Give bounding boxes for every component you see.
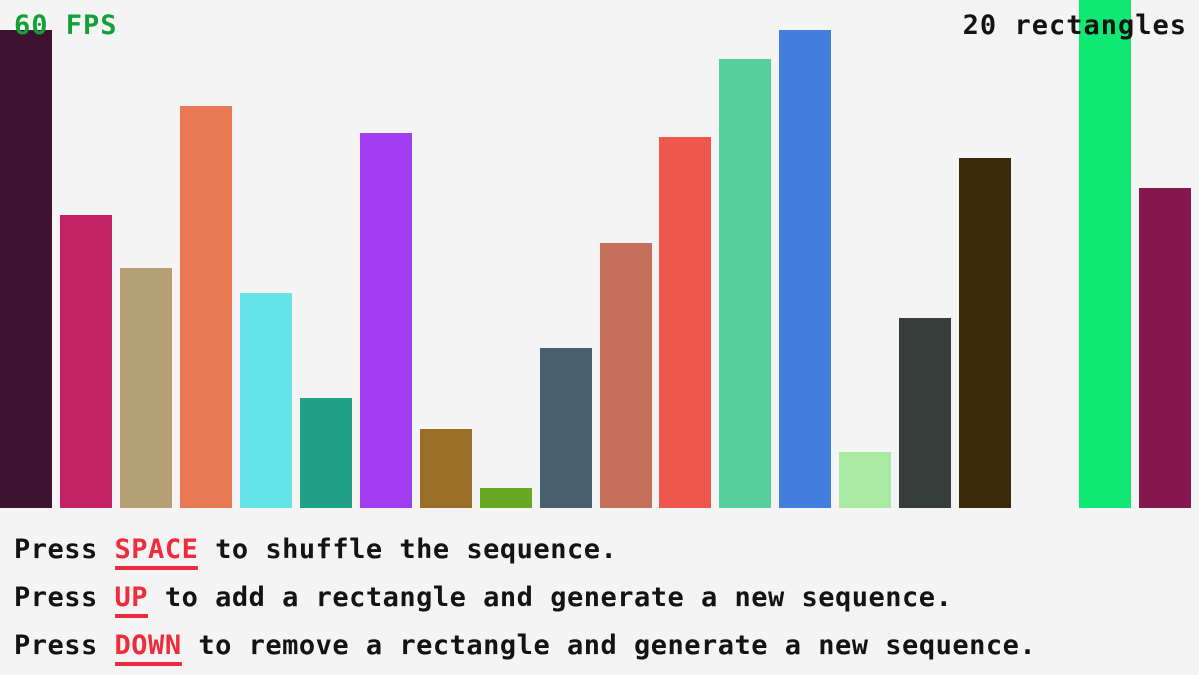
bar-16 [899,318,951,508]
bar-3 [120,268,172,508]
bar-2 [60,215,112,508]
bar-8 [420,429,472,508]
instruction-suffix: to shuffle the sequence. [198,534,617,565]
bar-5 [240,293,292,508]
instruction-line-2: Press UP to add a rectangle and generate… [14,574,1199,622]
key-up[interactable]: UP [115,582,149,618]
instruction-prefix: Press [14,582,115,613]
bar-15 [839,452,891,508]
bar-6 [300,398,352,508]
instruction-line-3: Press DOWN to remove a rectangle and gen… [14,622,1199,670]
bar-10 [540,348,592,508]
bar-19 [1079,0,1131,508]
bar-chart [0,0,1199,508]
bar-14 [779,30,831,508]
bar-1 [0,30,52,508]
app-canvas: 60 FPS 20 rectangles Press SPACE to shuf… [0,0,1199,675]
bar-4 [180,106,232,508]
bar-17 [959,158,1011,508]
bar-13 [719,59,771,508]
instructions-panel: Press SPACE to shuffle the sequence.Pres… [0,508,1199,675]
instruction-prefix: Press [14,534,115,565]
instruction-suffix: to add a rectangle and generate a new se… [148,582,952,613]
instruction-line-1: Press SPACE to shuffle the sequence. [14,526,1199,574]
key-down[interactable]: DOWN [115,630,182,666]
bar-11 [600,243,652,508]
instruction-prefix: Press [14,630,115,661]
bar-12 [659,137,711,508]
bar-20 [1139,188,1191,508]
rectangle-count-label: 20 rectangles [963,11,1187,41]
key-space[interactable]: SPACE [115,534,199,570]
bar-7 [360,133,412,508]
instruction-suffix: to remove a rectangle and generate a new… [182,630,1037,661]
fps-counter: 60 FPS [14,11,118,41]
bar-9 [480,488,532,508]
